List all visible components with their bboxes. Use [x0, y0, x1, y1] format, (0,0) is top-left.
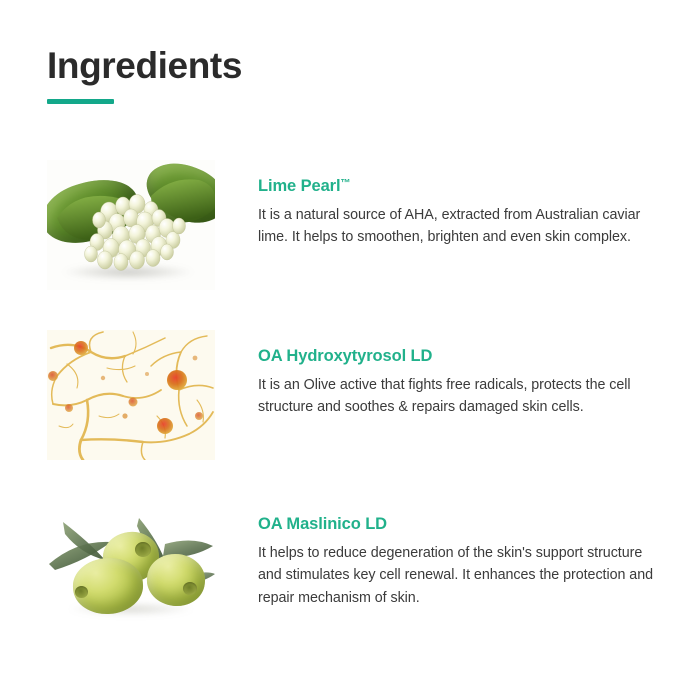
ingredient-description: It is an Olive active that fights free r… [258, 374, 662, 419]
ingredient-text-block: OA Hydroxytyrosol LD It is an Olive acti… [258, 347, 662, 419]
trademark-symbol: ™ [340, 178, 350, 189]
ingredient-name: OA Maslinico LD [258, 515, 662, 535]
ingredient-description: It helps to reduce degeneration of the s… [258, 542, 662, 610]
page-header: Ingredients [47, 47, 647, 104]
ingredient-description: It is a natural source of AHA, extracted… [258, 204, 662, 249]
ingredient-text-block: OA Maslinico LD It helps to reduce degen… [258, 515, 662, 610]
ingredient-name: OA Hydroxytyrosol LD [258, 347, 662, 367]
ingredient-name: Lime Pearl™ [258, 177, 662, 197]
list-item: OA Maslinico LD It helps to reduce degen… [47, 498, 662, 666]
title-accent-rule [47, 99, 114, 104]
ingredient-text-block: Lime Pearl™ It is a natural source of AH… [258, 177, 662, 249]
green-olives-photo [47, 498, 215, 628]
ingredient-name-text: OA Hydroxytyrosol LD [258, 347, 432, 365]
ingredients-page: Ingredients [0, 0, 700, 700]
ingredient-name-text: Lime Pearl [258, 177, 340, 195]
caviar-lime-pearls-photo [47, 160, 215, 290]
ingredient-name-text: OA Maslinico LD [258, 515, 387, 533]
list-item: Lime Pearl™ It is a natural source of AH… [47, 160, 662, 330]
golden-neuron-cells-photo [47, 330, 215, 460]
ingredient-list: Lime Pearl™ It is a natural source of AH… [47, 160, 662, 666]
list-item: OA Hydroxytyrosol LD It is an Olive acti… [47, 330, 662, 498]
page-title: Ingredients [47, 47, 647, 86]
